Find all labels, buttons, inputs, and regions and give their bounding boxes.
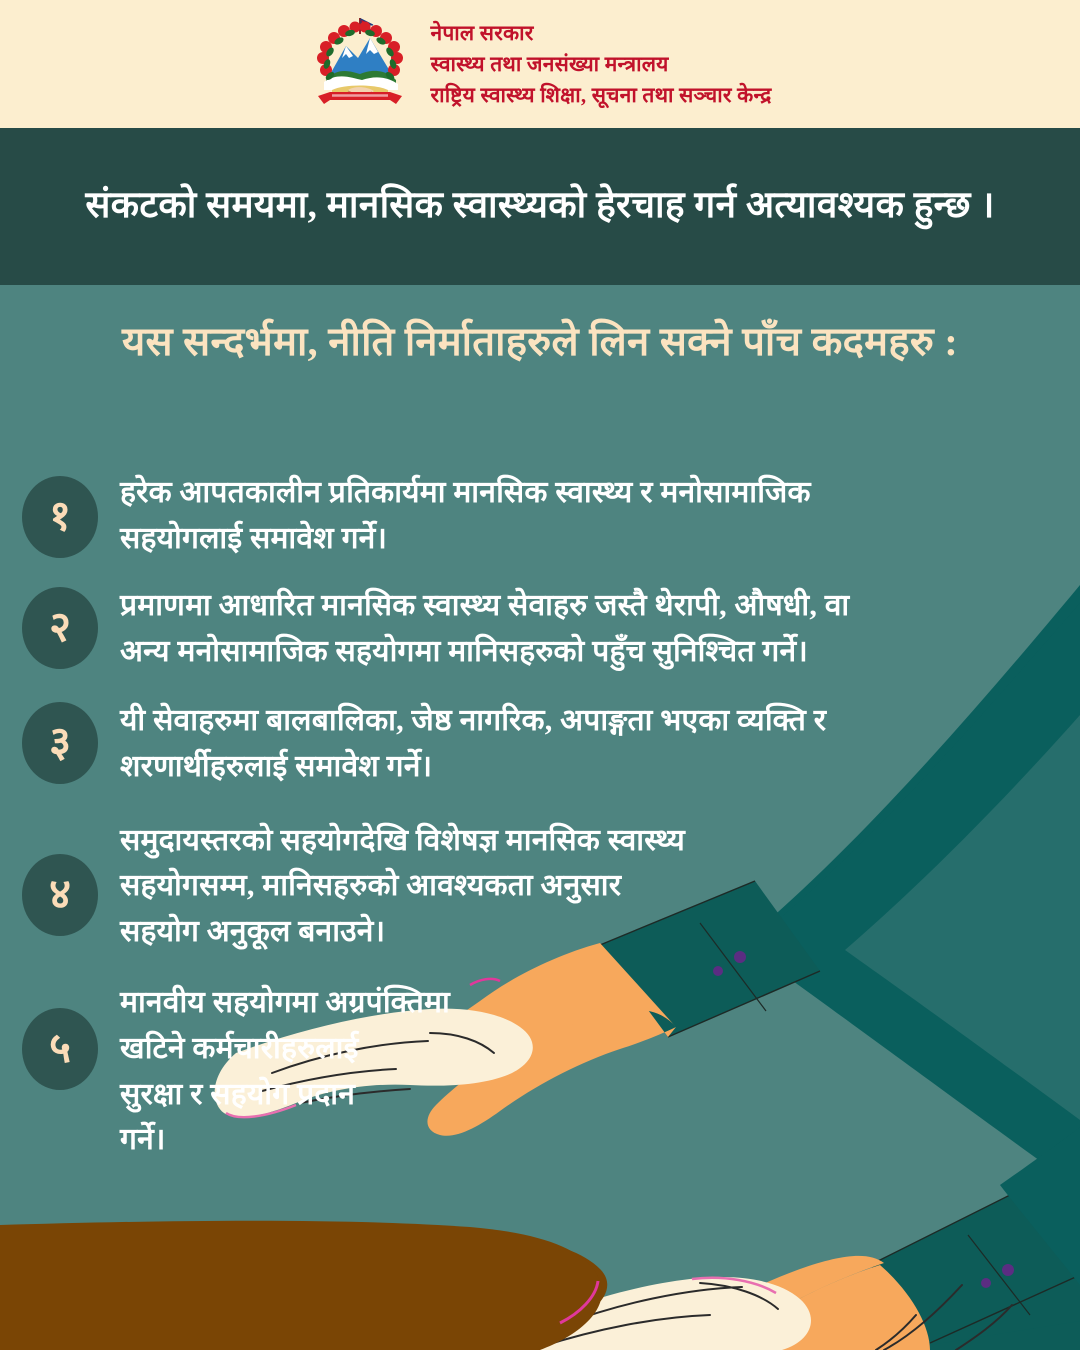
list-item: ५ मानवीय सहयोगमा अग्रपंक्तिमा खटिने कर्म…: [0, 980, 1080, 1162]
step-number-badge: २: [22, 587, 98, 669]
step-badge-wrap-3: ३: [0, 698, 120, 784]
step-badge-wrap-1: १: [0, 470, 120, 558]
step-badge-wrap-5: ५: [0, 980, 120, 1090]
page-title: संकटको समयमा, मानसिक स्वास्थ्यको हेरचाह …: [60, 180, 1020, 233]
step-number-badge: १: [22, 476, 98, 558]
step-text: समुदायस्तरको सहयोगदेखि विशेषज्ञ मानसिक स…: [120, 818, 1080, 955]
step-badge-wrap-2: २: [0, 583, 120, 669]
org-line-center: राष्ट्रिय स्वास्थ्य शिक्षा, सूचना तथा सञ…: [430, 81, 771, 109]
list-item: ४ समुदायस्तरको सहयोगदेखि विशेषज्ञ मानसिक…: [0, 818, 1080, 955]
step-number-badge: ४: [22, 854, 98, 936]
step-number-badge: ५: [22, 1008, 98, 1090]
header-band: नेपाल सरकार स्वास्थ्य तथा जनसंख्या मन्त्…: [0, 0, 1080, 128]
step-badge-wrap-4: ४: [0, 818, 120, 936]
subtitle-heading: यस सन्दर्भमा, नीति निर्माताहरुले लिन सक्…: [60, 312, 1020, 372]
list-item: १ हरेक आपतकालीन प्रतिकार्यमा मानसिक स्वा…: [0, 470, 1080, 561]
org-line-ministry: स्वास्थ्य तथा जनसंख्या मन्त्रालय: [430, 50, 771, 78]
steps-list: १ हरेक आपतकालीन प्रतिकार्यमा मानसिक स्वा…: [0, 470, 1080, 1185]
list-item: २ प्रमाणमा आधारित मानसिक स्वास्थ्य सेवाह…: [0, 583, 1080, 674]
title-band: संकटको समयमा, मानसिक स्वास्थ्यको हेरचाह …: [0, 128, 1080, 285]
step-number-badge: ३: [22, 702, 98, 784]
nepal-government-emblem-icon: [308, 12, 412, 116]
government-org-text: नेपाल सरकार स्वास्थ्य तथा जनसंख्या मन्त्…: [430, 19, 771, 109]
infographic-poster: नेपाल सरकार स्वास्थ्य तथा जनसंख्या मन्त्…: [0, 0, 1080, 1350]
step-text: यी सेवाहरुमा बालबालिका, जेष्ठ नागरिक, अप…: [120, 698, 1080, 789]
step-text: प्रमाणमा आधारित मानसिक स्वास्थ्य सेवाहरु…: [120, 583, 1080, 674]
list-item: ३ यी सेवाहरुमा बालबालिका, जेष्ठ नागरिक, …: [0, 698, 1080, 789]
step-text: हरेक आपतकालीन प्रतिकार्यमा मानसिक स्वास्…: [120, 470, 1080, 561]
step-text: मानवीय सहयोगमा अग्रपंक्तिमा खटिने कर्मचा…: [120, 980, 1080, 1162]
org-line-country: नेपाल सरकार: [430, 19, 771, 47]
